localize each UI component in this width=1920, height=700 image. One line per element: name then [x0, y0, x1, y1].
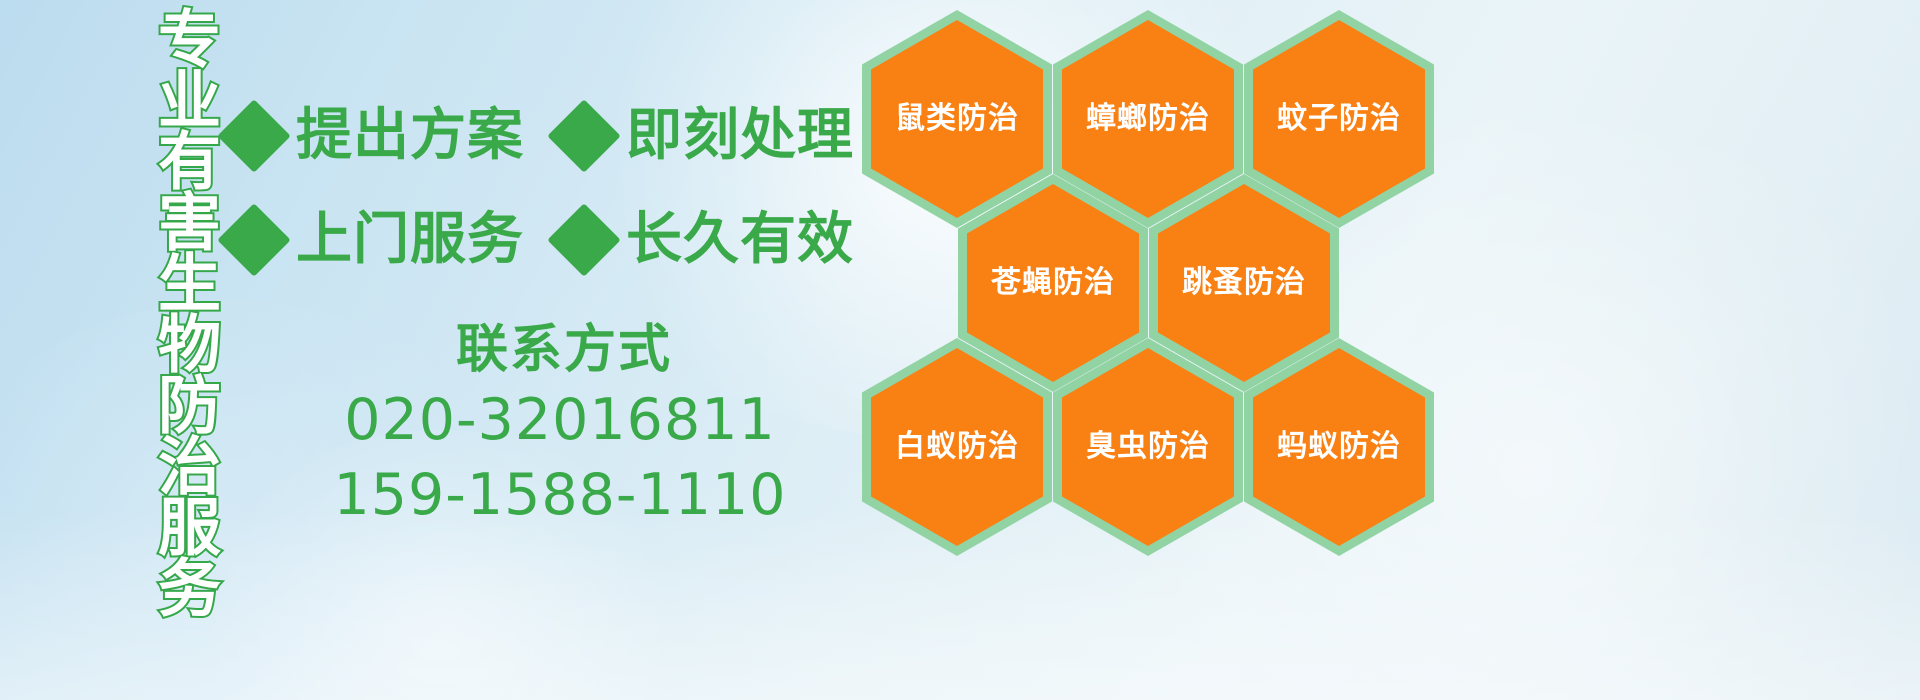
feature-label: 提出方案	[296, 108, 524, 164]
hex-label: 苍蝇防治	[991, 268, 1115, 298]
hex-label: 蚂蚁防治	[1277, 432, 1401, 462]
feature-label: 即刻处理	[626, 108, 854, 164]
feature-row: 上门服务 长久有效	[228, 188, 868, 292]
feature-label: 上门服务	[296, 212, 524, 268]
feature-item-long-lasting-effect: 长久有效	[558, 212, 854, 268]
feature-item-propose-plan: 提出方案	[228, 108, 524, 164]
hex-cell-bedbug-control[interactable]: 臭虫防治	[1053, 338, 1243, 556]
feature-row: 提出方案 即刻处理	[228, 84, 868, 188]
pest-control-banner: 专业有害生物防治服务 提出方案 即刻处理 上门服务 长久有效 联系方式	[0, 0, 1920, 700]
feature-label: 长久有效	[626, 212, 854, 268]
feature-list: 提出方案 即刻处理 上门服务 长久有效	[228, 84, 868, 292]
hex-label: 臭虫防治	[1086, 432, 1210, 462]
hex-label: 蚊子防治	[1277, 104, 1401, 134]
contact-title: 联系方式	[308, 318, 820, 383]
feature-item-on-site-service: 上门服务	[228, 212, 524, 268]
hex-label: 鼠类防治	[895, 104, 1019, 134]
phone-number-mobile[interactable]: 159-1588-1110	[300, 458, 820, 533]
diamond-icon	[547, 203, 621, 277]
contact-block: 联系方式 020-32016811 159-1588-1110	[300, 318, 820, 533]
service-hex-grid: 鼠类防治 蟑螂防治 蚊子防治 苍蝇防治 跳蚤防治	[862, 4, 1462, 564]
feature-item-immediate-handling: 即刻处理	[558, 108, 854, 164]
hex-label: 跳蚤防治	[1182, 268, 1306, 298]
hex-cell-termite-control[interactable]: 白蚁防治	[862, 338, 1052, 556]
hex-label: 白蚁防治	[895, 432, 1019, 462]
hex-cell-ant-control[interactable]: 蚂蚁防治	[1244, 338, 1434, 556]
phone-number-landline[interactable]: 020-32016811	[300, 383, 820, 458]
diamond-icon	[217, 99, 291, 173]
vertical-headline: 专业有害生物防治服务	[108, 6, 216, 586]
diamond-icon	[217, 203, 291, 277]
hex-label: 蟑螂防治	[1086, 104, 1210, 134]
diamond-icon	[547, 99, 621, 173]
